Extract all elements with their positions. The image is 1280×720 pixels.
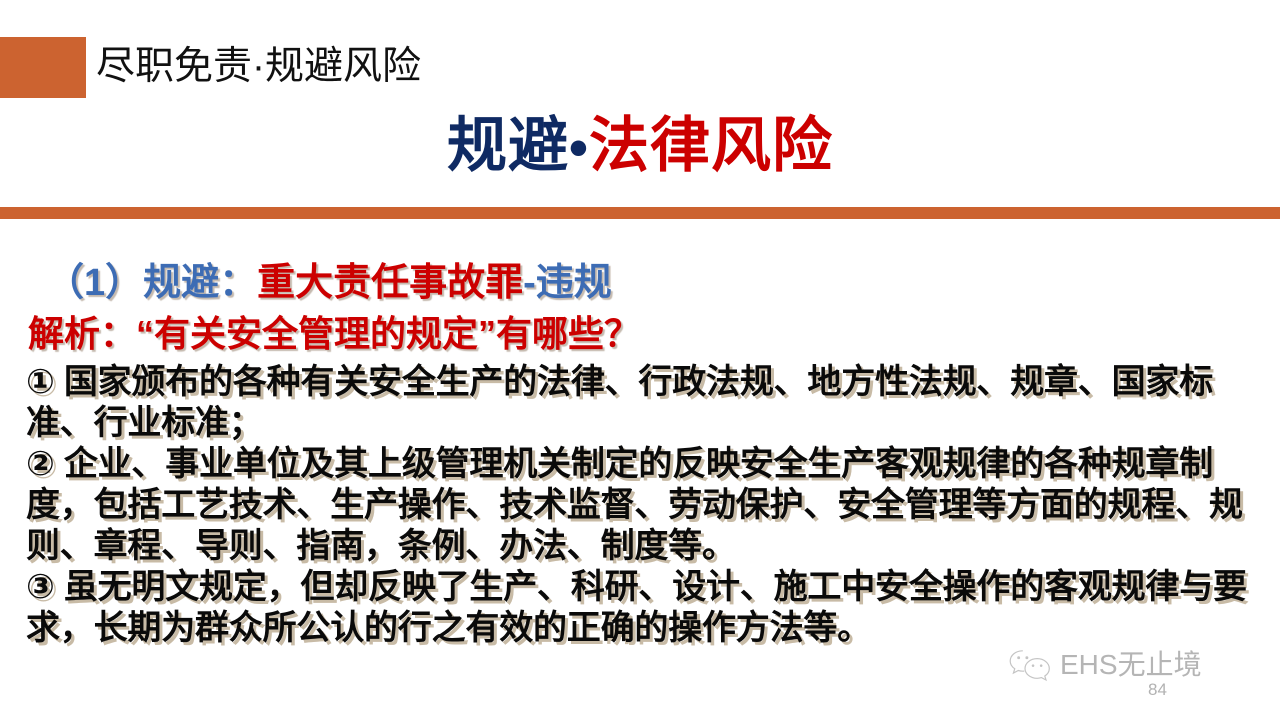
page-number: 84 — [1148, 680, 1167, 700]
body-item-2: ② 企业、事业单位及其上级管理机关制定的反映安全生产客观规律的各种规章制度，包括… — [0, 444, 1280, 567]
wechat-icon — [1008, 648, 1052, 682]
watermark: EHS无止境 — [1008, 648, 1202, 682]
watermark-text: EHS无止境 — [1060, 649, 1202, 681]
header-accent-block — [0, 37, 86, 98]
orange-divider — [0, 207, 1280, 219]
content-body: （1）规避：重大责任事故罪-违规 解析：“有关安全管理的规定”有哪些？ ① 国家… — [0, 258, 1280, 649]
main-title-part-blue: 规避 — [447, 112, 569, 179]
section-subheading: 解析：“有关安全管理的规定”有哪些？ — [0, 310, 1280, 358]
section-heading: （1）规避：重大责任事故罪-违规 — [0, 258, 1280, 308]
slide-canvas: 尽职免责·规避风险 规避•法律风险 （1）规避：重大责任事故罪-违规 解析：“有… — [0, 0, 1280, 720]
body-item-3: ③ 虽无明文规定，但却反映了生产、科研、设计、施工中安全操作的客观规律与要求，长… — [0, 567, 1280, 649]
main-title: 规避•法律风险 — [0, 107, 1280, 187]
section-heading-emphasis: 重大责任事故罪 — [257, 262, 523, 304]
header-title: 尽职免责·规避风险 — [96, 39, 421, 95]
section-heading-suffix: -违规 — [523, 262, 612, 304]
main-title-part-red: 法律风险 — [589, 112, 833, 179]
section-heading-prefix: （1）规避： — [46, 262, 257, 304]
body-item-1: ① 国家颁布的各种有关安全生产的法律、行政法规、地方性法规、规章、国家标准、行业… — [0, 362, 1280, 444]
main-title-bullet: • — [569, 118, 589, 178]
